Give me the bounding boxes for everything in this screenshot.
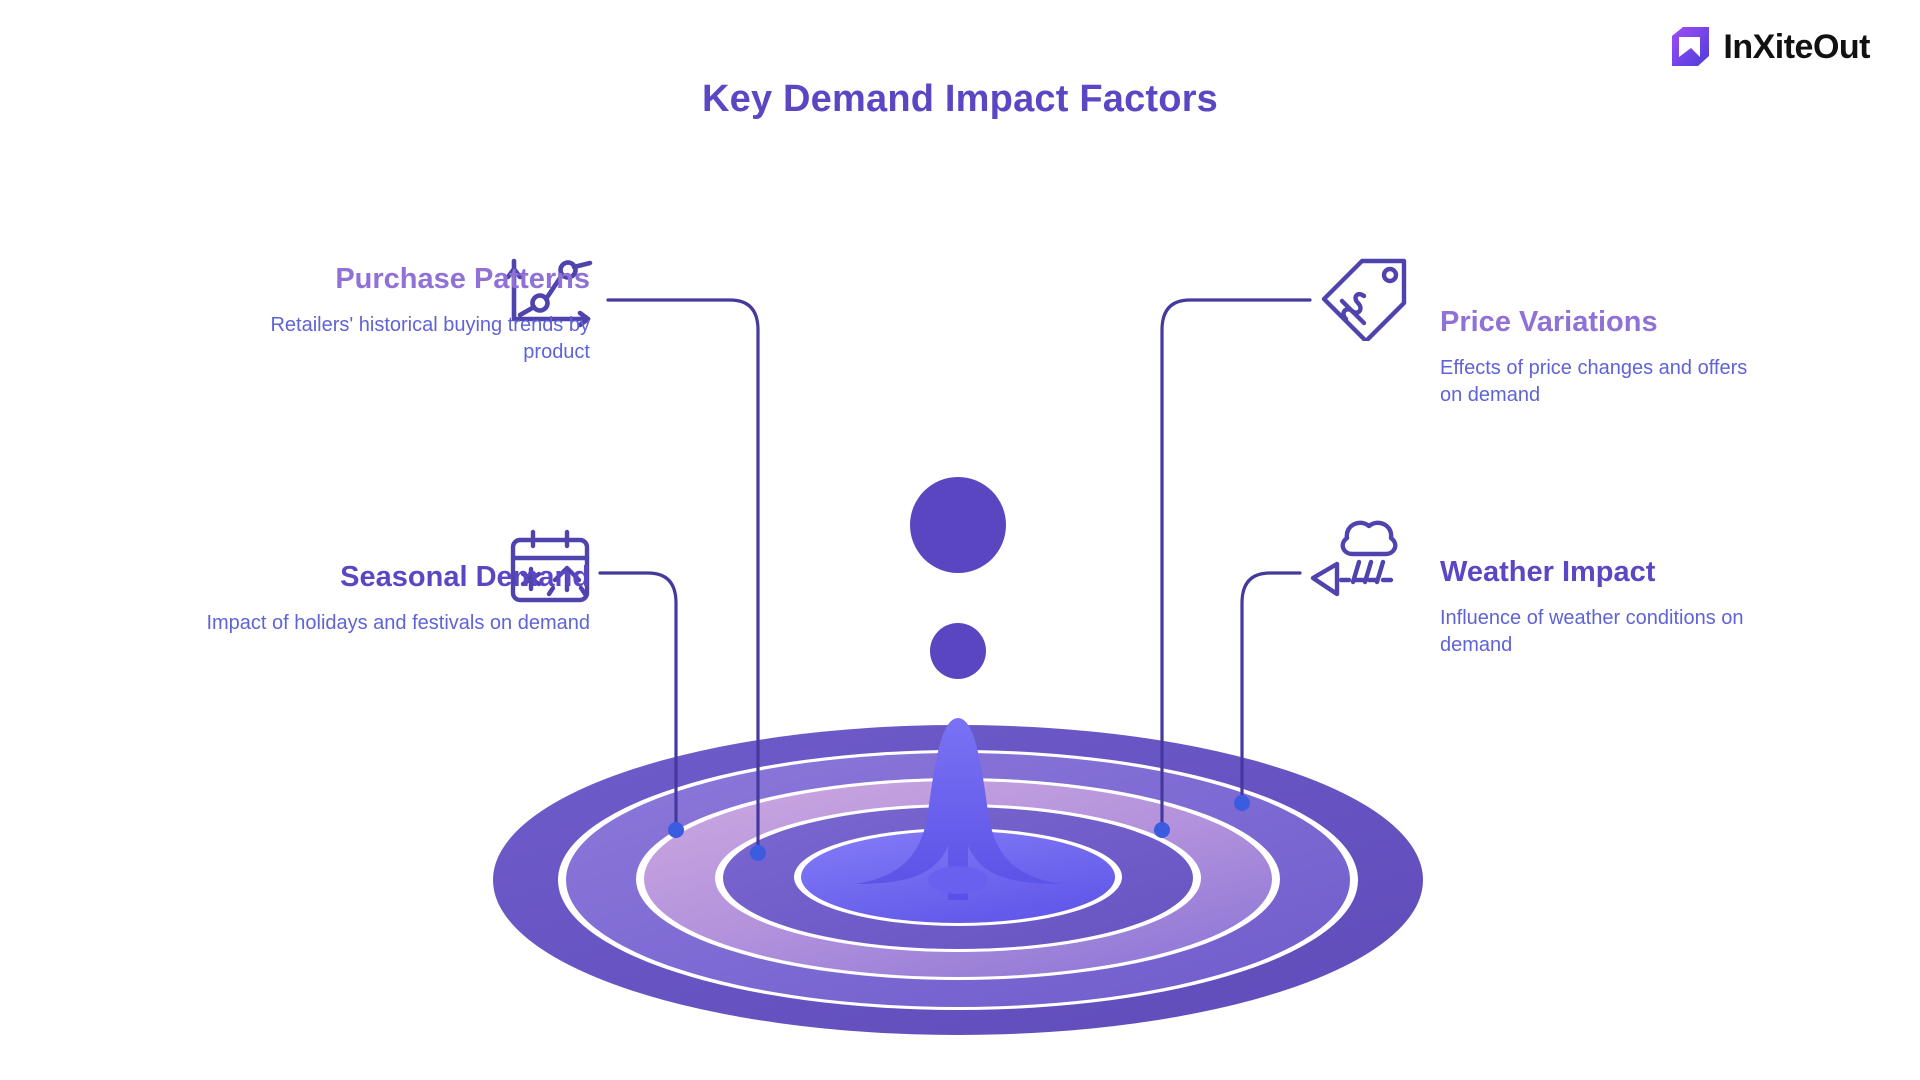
factor-seasonal-demand[interactable]: Seasonal Demand Impact of holidays and f… [200,560,590,637]
factor-title: Seasonal Demand [200,560,590,594]
price-tag-icon [1318,253,1418,341]
infographic-canvas: InXiteOut Key Demand Impact Factors [0,0,1920,1080]
factor-weather-impact[interactable]: Weather Impact Influence of weather cond… [1440,555,1770,658]
rain-cloud-wind-icon [1305,512,1415,604]
factor-description: Impact of holidays and festivals on dema… [200,610,590,636]
droplet-small [930,623,986,679]
factor-title: Purchase Patterns [260,262,590,296]
factor-description: Effects of price changes and offers on d… [1440,355,1770,408]
factor-price-variations[interactable]: Price Variations Effects of price change… [1440,305,1770,408]
droplet-large [910,477,1006,573]
central-ripple-graphic [0,0,1920,1080]
factor-description: Influence of weather conditions on deman… [1440,605,1770,658]
factor-description: Retailers' historical buying trends by p… [260,312,590,365]
factor-title: Weather Impact [1440,555,1770,589]
factor-purchase-patterns[interactable]: Purchase Patterns Retailers' historical … [260,262,590,365]
factor-title: Price Variations [1440,305,1770,339]
